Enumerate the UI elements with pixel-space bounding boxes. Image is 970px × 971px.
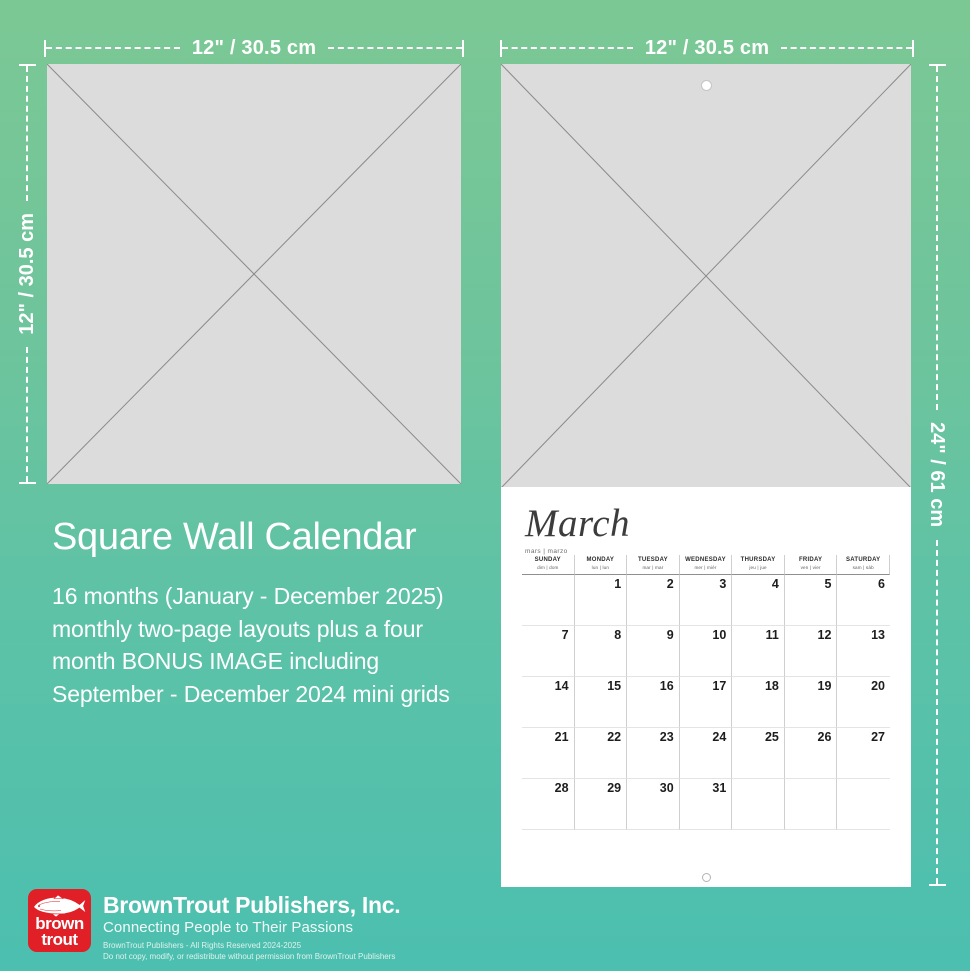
calendar-day-cell[interactable]: 26 [785, 728, 838, 779]
calendar-day-cell[interactable]: 2 [627, 575, 680, 626]
calendar-day-cell[interactable]: 14 [522, 677, 575, 728]
calendar-day-cell[interactable]: 22 [575, 728, 628, 779]
calendar-day-number: 27 [871, 730, 885, 744]
calendar-day-cell[interactable]: 25 [732, 728, 785, 779]
calendar-day-cell[interactable]: 18 [732, 677, 785, 728]
calendar-day-cell[interactable]: 4 [732, 575, 785, 626]
dimension-dash-left [46, 47, 180, 49]
calendar-day-number: 21 [555, 730, 569, 744]
calendar-day-number: 29 [607, 781, 621, 795]
calendar-dow-translations: sam | sáb [837, 565, 889, 571]
calendar-dow-header: TUESDAYmar | mar [627, 555, 680, 575]
calendar-day-cell[interactable]: 16 [627, 677, 680, 728]
footer: brown trout BrownTrout Publishers, Inc. … [28, 889, 400, 963]
calendar-day-number: 22 [607, 730, 621, 744]
calendar-day-number: 15 [607, 679, 621, 693]
calendar-day-cell[interactable]: 8 [575, 626, 628, 677]
calendar-day-cell[interactable]: 9 [627, 626, 680, 677]
logo-word-trout: trout [28, 932, 91, 948]
calendar-day-number: 25 [765, 730, 779, 744]
calendar-day-cell[interactable]: 12 [785, 626, 838, 677]
calendar-day-number: 11 [766, 628, 779, 642]
calendar-dow-header: FRIDAYven | vier [785, 555, 838, 575]
calendar-day-cell[interactable]: 5 [785, 575, 838, 626]
month-name: March [525, 504, 630, 543]
product-description: 16 months (January - December 2025) mont… [52, 580, 492, 711]
calendar-day-number: 18 [765, 679, 779, 693]
calendar-day-number: 20 [871, 679, 885, 693]
hole-punch-icon [702, 873, 711, 882]
calendar-dow-header: SATURDAYsam | sáb [837, 555, 890, 575]
calendar-day-cell[interactable]: 27 [837, 728, 890, 779]
dimension-cap-right [462, 40, 464, 57]
calendar-day-number: 7 [562, 628, 569, 642]
dimension-line-left-height: 12" / 30.5 cm [16, 64, 38, 484]
calendar-dow-header: WEDNESDAYmer | miér [680, 555, 733, 575]
calendar-day-number: 10 [712, 628, 726, 642]
product-title: Square Wall Calendar [52, 518, 492, 558]
calendar-day-number: 4 [772, 577, 779, 591]
month-name-translations: mars | marzo [525, 548, 630, 555]
calendar-day-cell[interactable]: 13 [837, 626, 890, 677]
calendar-day-number: 1 [614, 577, 621, 591]
hole-punch-icon [702, 81, 711, 90]
dimension-dash-left [502, 47, 633, 49]
calendar-dow-header: THURSDAYjeu | jue [732, 555, 785, 575]
interior-image-placeholder [501, 64, 911, 488]
calendar-day-cell[interactable]: 10 [680, 626, 733, 677]
calendar-day-cell[interactable]: 30 [627, 779, 680, 830]
calendar-dow-name: SUNDAY [522, 557, 574, 564]
calendar-dow-translations: mar | mar [627, 565, 679, 571]
calendar-day-cell[interactable]: 7 [522, 626, 575, 677]
calendar-dow-name: MONDAY [575, 557, 627, 564]
calendar-dow-name: SATURDAY [837, 557, 889, 564]
dimension-dash-right [781, 47, 912, 49]
calendar-day-number: 12 [818, 628, 832, 642]
calendar-dow-header: SUNDAYdim | dom [522, 555, 575, 575]
browntrout-logo[interactable]: brown trout [28, 889, 91, 952]
calendar-day-number: 9 [667, 628, 674, 642]
dimension-dash-top [936, 66, 938, 410]
publisher-name: BrownTrout Publishers, Inc. [103, 893, 400, 918]
footer-text: BrownTrout Publishers, Inc. Connecting P… [103, 889, 400, 963]
calendar-dow-name: WEDNESDAY [680, 557, 732, 564]
dimension-cap-right [912, 40, 914, 57]
calendar-dow-translations: jeu | jue [732, 565, 784, 571]
calendar-day-cell[interactable] [785, 779, 838, 830]
copyright-line-2: Do not copy, modify, or redistribute wit… [103, 952, 400, 963]
dimension-label-top-right: 12" / 30.5 cm [633, 38, 781, 58]
calendar-day-cell[interactable]: 3 [680, 575, 733, 626]
calendar-day-cell[interactable] [837, 779, 890, 830]
dimension-dash-bottom [26, 347, 28, 482]
calendar-month-heading: March mars | marzo [525, 504, 630, 555]
calendar-dow-header: MONDAYlun | lun [575, 555, 628, 575]
calendar-day-cell[interactable]: 23 [627, 728, 680, 779]
calendar-day-number: 19 [818, 679, 832, 693]
calendar-day-cell[interactable]: 29 [575, 779, 628, 830]
dimension-label-top-left: 12" / 30.5 cm [180, 38, 328, 58]
dimension-line-right-height: 24" / 61 cm [926, 64, 948, 886]
calendar-day-number: 30 [660, 781, 674, 795]
calendar-day-number: 5 [824, 577, 831, 591]
calendar-dow-translations: dim | dom [522, 565, 574, 571]
dimension-dash-top [26, 66, 28, 201]
calendar-day-number: 3 [719, 577, 726, 591]
calendar-day-cell[interactable]: 24 [680, 728, 733, 779]
calendar-day-cell[interactable]: 28 [522, 779, 575, 830]
calendar-day-cell[interactable]: 1 [575, 575, 628, 626]
calendar-day-cell[interactable]: 11 [732, 626, 785, 677]
calendar-day-number: 31 [712, 781, 726, 795]
calendar-day-number: 14 [555, 679, 569, 693]
publisher-tagline: Connecting People to Their Passions [103, 919, 400, 936]
calendar-day-number: 17 [712, 679, 726, 693]
calendar-day-number: 26 [818, 730, 832, 744]
calendar-day-number: 16 [660, 679, 674, 693]
calendar-day-number: 6 [878, 577, 885, 591]
dimension-cap-bottom [19, 482, 36, 484]
logo-wordmark: brown trout [28, 916, 91, 947]
calendar-grid: SUNDAYdim | domMONDAYlun | lunTUESDAYmar… [522, 555, 890, 830]
calendar-dow-translations: lun | lun [575, 565, 627, 571]
calendar-page: March mars | marzo SUNDAYdim | domMONDAY… [501, 487, 911, 887]
calendar-day-cell[interactable]: 19 [785, 677, 838, 728]
calendar-day-cell[interactable] [732, 779, 785, 830]
dimension-line-top-left: 12" / 30.5 cm [44, 37, 464, 59]
marketing-copy: Square Wall Calendar 16 months (January … [52, 518, 492, 711]
cover-image-placeholder [47, 64, 461, 484]
calendar-day-cell[interactable]: 15 [575, 677, 628, 728]
calendar-dow-name: TUESDAY [627, 557, 679, 564]
calendar-day-number: 2 [667, 577, 674, 591]
calendar-day-cell[interactable] [522, 575, 575, 626]
calendar-day-cell[interactable]: 17 [680, 677, 733, 728]
calendar-day-number: 28 [555, 781, 569, 795]
dimension-line-top-right: 12" / 30.5 cm [500, 37, 914, 59]
calendar-day-number: 24 [712, 730, 726, 744]
calendar-day-cell[interactable]: 31 [680, 779, 733, 830]
calendar-dow-translations: mer | miér [680, 565, 732, 571]
calendar-day-cell[interactable]: 21 [522, 728, 575, 779]
calendar-day-cell[interactable]: 6 [837, 575, 890, 626]
calendar-day-number: 8 [614, 628, 621, 642]
dimension-label-left-height: 12" / 30.5 cm [17, 201, 37, 347]
calendar-day-number: 13 [871, 628, 885, 642]
calendar-dow-translations: ven | vier [785, 565, 837, 571]
dimension-dash-right [328, 47, 462, 49]
calendar-dow-name: THURSDAY [732, 557, 784, 564]
copyright-line-1: BrownTrout Publishers - All Rights Reser… [103, 941, 400, 952]
dimension-label-right-height: 24" / 61 cm [927, 410, 947, 539]
dimension-dash-bottom [936, 540, 938, 884]
dimension-cap-bottom [929, 884, 946, 886]
copyright-notice: BrownTrout Publishers - All Rights Reser… [103, 941, 400, 963]
calendar-day-number: 23 [660, 730, 674, 744]
calendar-dow-name: FRIDAY [785, 557, 837, 564]
calendar-day-cell[interactable]: 20 [837, 677, 890, 728]
